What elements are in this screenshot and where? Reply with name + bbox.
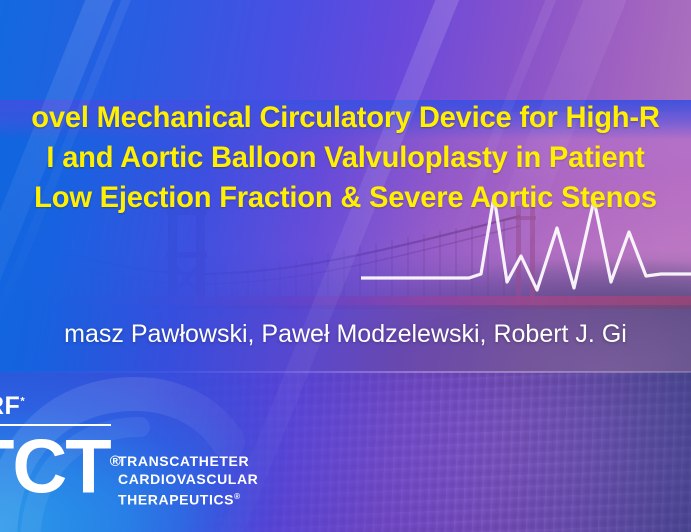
- crf-trademark: *: [20, 396, 25, 408]
- crf-label: RF: [0, 392, 20, 420]
- tct-label: TCT: [0, 424, 110, 509]
- slide-title: ovel Mechanical Circulatory Device for H…: [10, 98, 680, 218]
- title-line-1: ovel Mechanical Circulatory Device for H…: [10, 98, 680, 138]
- title-line-3: Low Ejection Fraction & Severe Aortic St…: [10, 178, 680, 218]
- tct-subtitle-line-3: THERAPEUTICS®: [118, 488, 258, 509]
- tct-logo-subtitle: TRANSCATHETER CARDIOVASCULAR THERAPEUTIC…: [118, 452, 258, 509]
- title-line-2: I and Aortic Balloon Valvuloplasty in Pa…: [10, 138, 680, 178]
- presentation-title-slide: ovel Mechanical Circulatory Device for H…: [0, 0, 691, 532]
- tct-logo-text: TCT®: [0, 424, 119, 505]
- crf-logo-text: RF*: [0, 392, 25, 421]
- tct-subtitle-line-3-text: THERAPEUTICS: [118, 492, 234, 508]
- author-list: masz Pawłowski, Paweł Modzelewski, Rober…: [0, 318, 691, 350]
- tct-subtitle-line-1: TRANSCATHETER: [118, 452, 258, 470]
- tct-subtitle-trademark: ®: [234, 492, 241, 501]
- tct-subtitle-line-2: CARDIOVASCULAR: [118, 470, 258, 488]
